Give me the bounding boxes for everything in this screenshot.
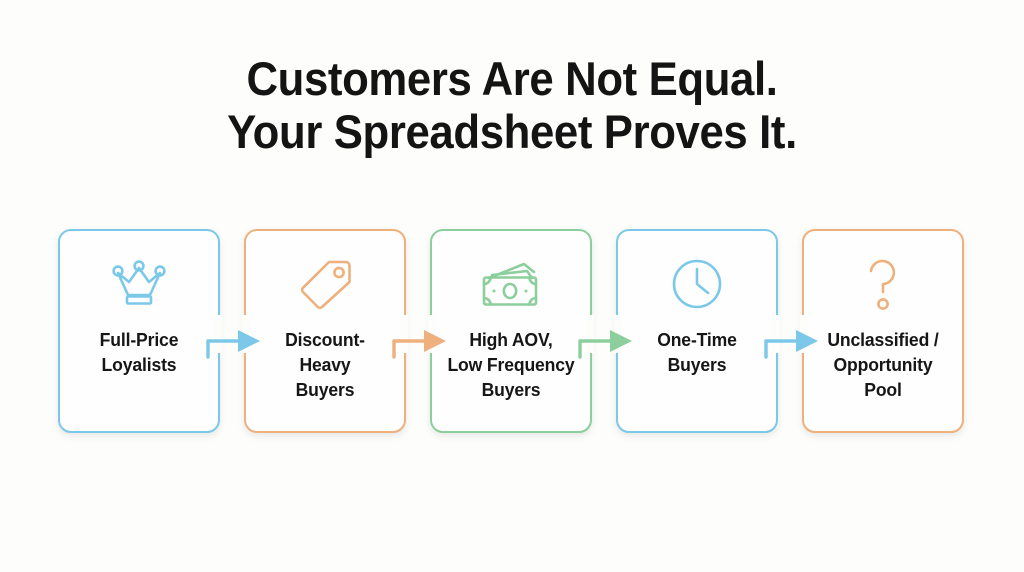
customer-segment-flow: Full-PriceLoyalistsDiscount-HeavyBuyersH… — [58, 229, 968, 433]
segment-card-label: Discount-HeavyBuyers — [253, 327, 397, 402]
segment-card-label: One-TimeBuyers — [625, 327, 769, 377]
segment-card-label-line: Full-Price — [67, 327, 211, 352]
segment-card-label-line: Buyers — [625, 352, 769, 377]
segment-card-label-line: Buyers — [439, 377, 583, 402]
segment-card-full-price-loyalists[interactable]: Full-PriceLoyalists — [58, 229, 220, 433]
page-title-line-1: Customers Are Not Equal. — [36, 52, 988, 105]
segment-card-label-line: Buyers — [253, 377, 397, 402]
banknotes-icon — [480, 255, 542, 313]
segment-card-label-line: Opportunity — [811, 352, 955, 377]
flow-arrow-3 — [574, 324, 638, 358]
segment-card-high-aov-low-frequency-buyers[interactable]: High AOV,Low FrequencyBuyers — [430, 229, 592, 433]
segment-card-one-time-buyers[interactable]: One-TimeBuyers — [616, 229, 778, 433]
clock-icon — [666, 255, 728, 313]
page-title-line-2: Your Spreadsheet Proves It. — [36, 105, 988, 158]
segment-card-label-line: Low Frequency — [439, 352, 583, 377]
segment-card-discount-heavy-buyers[interactable]: Discount-HeavyBuyers — [244, 229, 406, 433]
segment-card-label-line: Unclassified / — [811, 327, 955, 352]
segment-card-label-line: Pool — [811, 377, 955, 402]
flow-arrow-2 — [388, 324, 452, 358]
page-title: Customers Are Not Equal. Your Spreadshee… — [0, 52, 1024, 158]
segment-card-label: High AOV,Low FrequencyBuyers — [439, 327, 583, 402]
segment-card-label: Unclassified /OpportunityPool — [811, 327, 955, 402]
flow-arrow-1 — [202, 324, 266, 358]
segment-card-label-line: Heavy — [253, 352, 397, 377]
price-tag-icon — [294, 255, 356, 313]
crown-icon — [108, 255, 170, 313]
segment-card-label-line: One-Time — [625, 327, 769, 352]
segment-card-unclassified-opportunity-pool[interactable]: Unclassified /OpportunityPool — [802, 229, 964, 433]
segment-card-label: Full-PriceLoyalists — [67, 327, 211, 377]
question-mark-icon — [852, 255, 914, 313]
segment-card-label-line: High AOV, — [439, 327, 583, 352]
flow-arrow-4 — [760, 324, 824, 358]
segment-card-label-line: Discount- — [253, 327, 397, 352]
segment-card-label-line: Loyalists — [67, 352, 211, 377]
